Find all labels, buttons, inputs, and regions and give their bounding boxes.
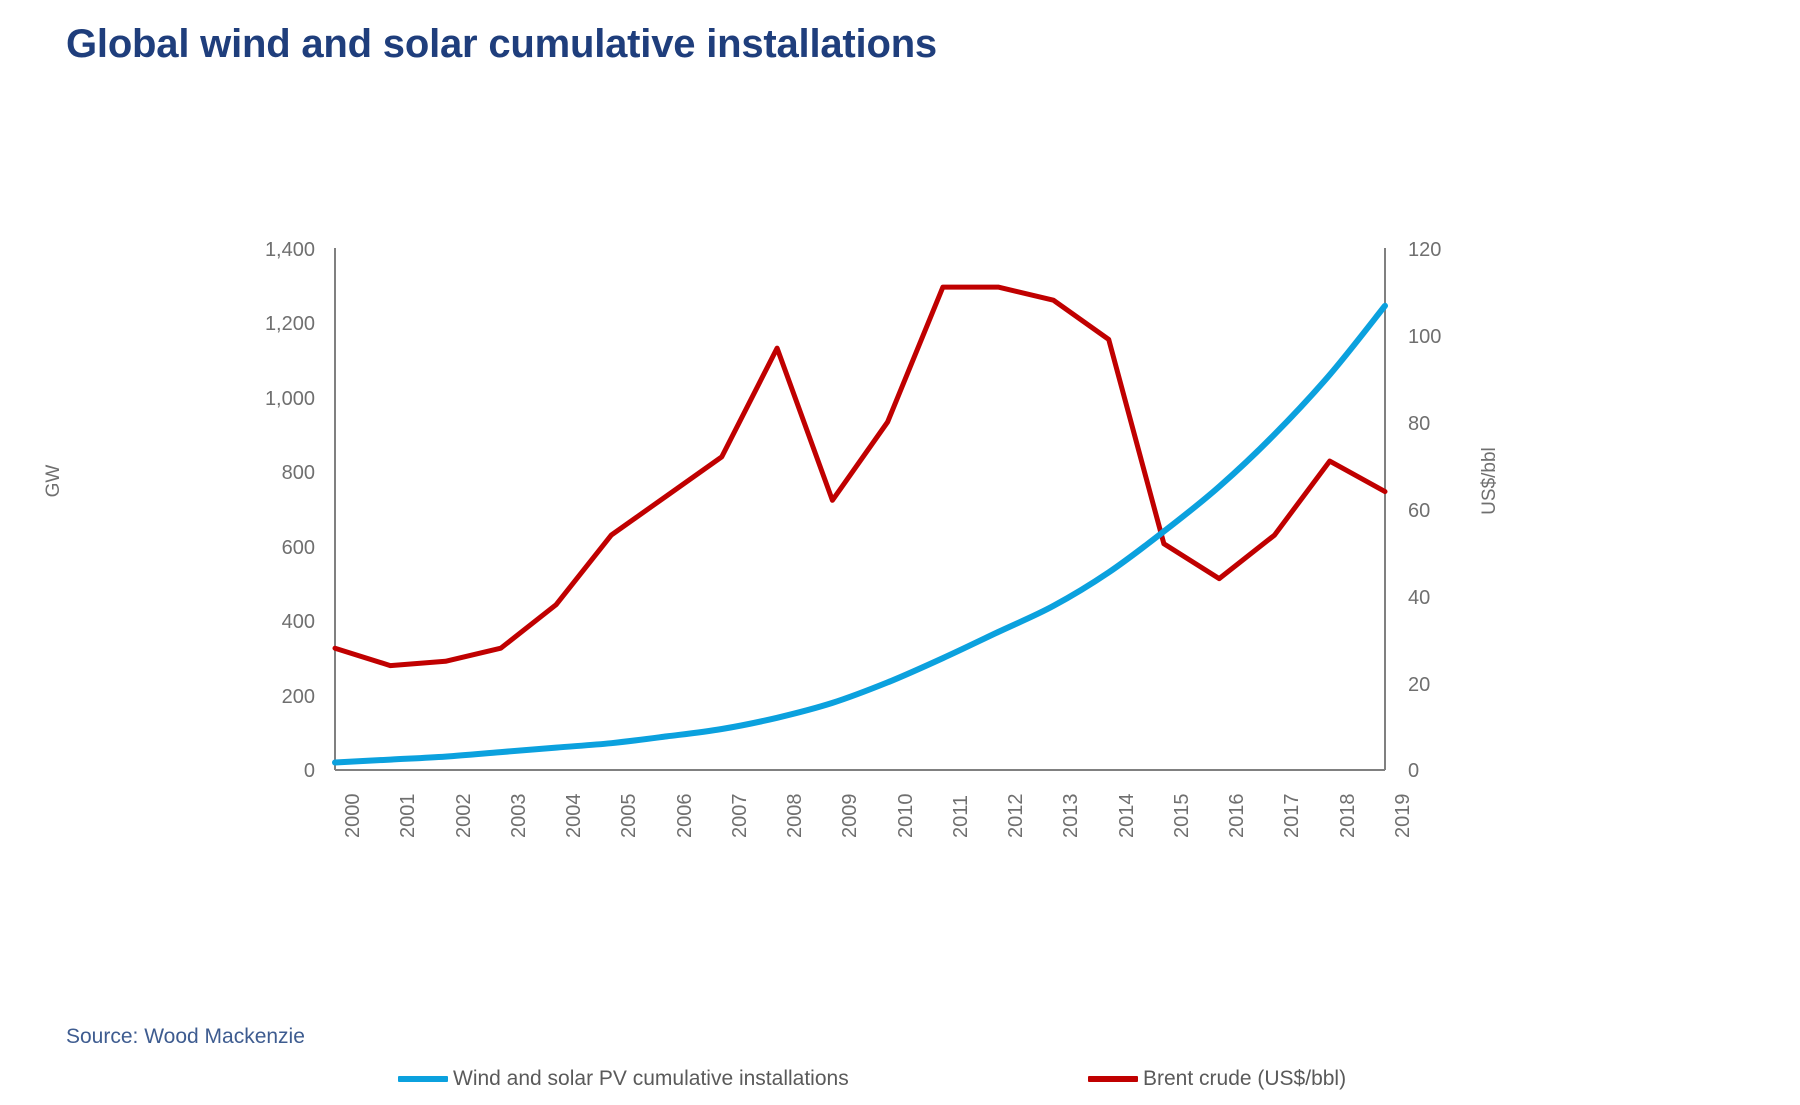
x-tick-2013: 2013 (1061, 794, 1081, 839)
x-tick-2006: 2006 (675, 794, 695, 839)
x-tick-2016: 2016 (1227, 794, 1247, 839)
wind-solar-line (335, 306, 1385, 763)
page-title: Global wind and solar cumulative install… (66, 22, 937, 67)
x-tick-2015: 2015 (1172, 794, 1192, 839)
x-tick-2003: 2003 (509, 794, 529, 839)
chart-container: GW US$/bbl 1,400 1,200 1,000 800 600 400… (0, 180, 1560, 950)
legend-item-wind-solar[interactable]: Wind and solar PV cumulative installatio… (398, 1065, 849, 1093)
legend-label-wind-solar: Wind and solar PV cumulative installatio… (453, 1067, 849, 1091)
x-tick-2011: 2011 (951, 795, 971, 838)
legend-swatch-brent-crude (1088, 1076, 1138, 1082)
x-tick-2000: 2000 (343, 794, 363, 839)
x-tick-2002: 2002 (454, 794, 474, 839)
legend-swatch-wind-solar (398, 1076, 448, 1082)
plot-area (0, 180, 1560, 960)
source-note: Source: Wood Mackenzie (66, 1025, 305, 1049)
x-tick-2017: 2017 (1282, 794, 1302, 839)
x-tick-2019: 2019 (1393, 794, 1413, 839)
x-tick-2010: 2010 (896, 794, 916, 839)
legend-item-brent-crude[interactable]: Brent crude (US$/bbl) (1088, 1065, 1346, 1093)
x-tick-2007: 2007 (730, 794, 750, 839)
slide-canvas: Global wind and solar cumulative install… (0, 0, 1800, 1080)
x-tick-2008: 2008 (785, 794, 805, 839)
x-tick-2004: 2004 (564, 794, 584, 839)
legend-label-brent-crude: Brent crude (US$/bbl) (1143, 1067, 1346, 1091)
chart-legend: Wind and solar PV cumulative installatio… (0, 1065, 1560, 1105)
x-tick-2014: 2014 (1117, 794, 1137, 839)
x-tick-2001: 2001 (398, 794, 418, 839)
x-tick-2009: 2009 (840, 794, 860, 839)
x-tick-2018: 2018 (1338, 794, 1358, 839)
x-tick-2005: 2005 (619, 794, 639, 839)
x-tick-2012: 2012 (1006, 794, 1026, 839)
